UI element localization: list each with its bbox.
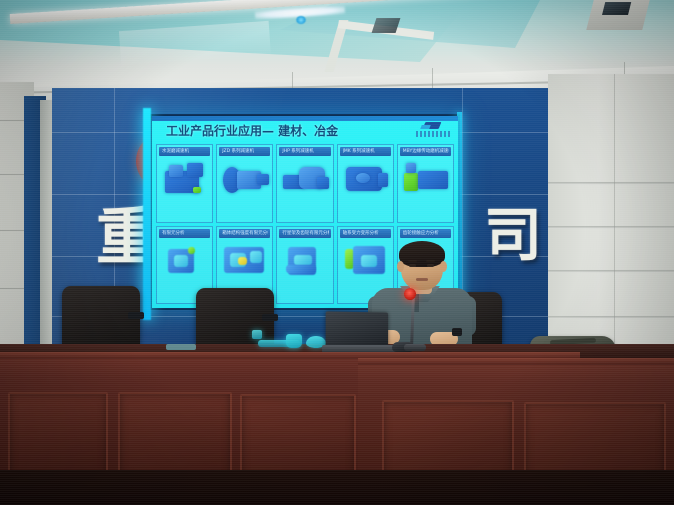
slide-cell-label: JMK 系列减速机 xyxy=(343,148,389,155)
slide-cell: MBY边缘传动磨机减速机 xyxy=(397,144,454,223)
slide-cell-label: MBY边缘传动磨机减速机 xyxy=(403,148,449,155)
presenter-eye-right xyxy=(427,264,434,267)
presenter-hair xyxy=(399,241,445,267)
chair-left-arm xyxy=(128,312,144,319)
slide-cell-header: JZD 系列减速机 xyxy=(219,147,270,156)
slide-cell: JZD 系列减速机 xyxy=(216,144,273,223)
slide-cell-label: 行星架及齿轮有限元分析 xyxy=(282,230,328,237)
podium-right-top-rail xyxy=(358,358,674,365)
product-image xyxy=(223,161,267,218)
slide-cell-header: 箱体结构强度有限元分析 xyxy=(219,229,270,238)
wall-character-right: 司 xyxy=(484,188,542,272)
slide-cell-label: 箱体结构强度有限元分析 xyxy=(222,230,268,237)
presenter-wristwatch xyxy=(452,328,462,336)
slide-cell: JHP 系列减速机 xyxy=(276,144,333,223)
product-image xyxy=(344,161,388,218)
slide-cell-label: 轴系受力变形分析 xyxy=(343,230,389,237)
desk-paper xyxy=(166,344,196,350)
slide-top-bar xyxy=(152,116,458,121)
photo-scene: 重 司 工业产品行业应用— 建材、冶金 水泥磨减速机 xyxy=(0,0,674,505)
laptop-screen xyxy=(326,311,388,348)
analysis-image xyxy=(282,243,328,301)
slide-cell-header: MBY边缘传动磨机减速机 xyxy=(400,147,451,156)
desk-cup-left xyxy=(286,334,302,348)
slide-cell-label: JHP 系列减速机 xyxy=(282,148,328,155)
slide-cell-header: 轴系受力变形分析 xyxy=(340,229,391,238)
microphone-led-icon xyxy=(404,288,416,300)
floor xyxy=(0,470,674,505)
slide-cell: JMK 系列减速机 xyxy=(337,144,394,223)
ceiling-vent-icon xyxy=(372,18,401,33)
right-white-wall xyxy=(548,74,674,356)
slide-cell-header: 水泥磨减速机 xyxy=(159,147,210,156)
presenter-ear-right xyxy=(440,261,447,272)
slide-cell-header: JMK 系列减速机 xyxy=(340,147,391,156)
ceiling-light-blue-dot xyxy=(296,16,306,24)
desk-item-small xyxy=(252,330,262,339)
slide-cell: 水泥磨减速机 xyxy=(156,144,213,223)
slide-cell-header: JHP 系列减速机 xyxy=(279,147,330,156)
slide-cell-header: 齿轮接触应力分析 xyxy=(400,229,451,238)
product-image xyxy=(283,161,327,218)
slide-cell-label: 齿轮接触应力分析 xyxy=(403,230,449,237)
presenter-ear-left xyxy=(397,261,404,272)
slide-cell: 行星架及齿轮有限元分析 xyxy=(276,226,333,305)
product-image xyxy=(404,161,448,218)
chair-center-arm xyxy=(262,314,278,321)
slide-cell-label: JZD 系列减速机 xyxy=(222,148,268,155)
slide-cell-label: 水泥磨减速机 xyxy=(162,148,208,155)
microphone-base xyxy=(404,344,426,351)
slide-logo-icon xyxy=(416,122,450,138)
presenter-brow-left xyxy=(408,260,417,262)
podium-panel-1 xyxy=(8,392,108,480)
slide-title: 工业产品行业应用— 建材、冶金 xyxy=(166,122,416,142)
slide-cell-header: 有限元分析 xyxy=(159,229,210,238)
ceiling-fixture xyxy=(586,0,649,30)
presenter-eye-left xyxy=(409,264,416,267)
slide-cell-header: 行星架及齿轮有限元分析 xyxy=(279,229,330,238)
screen-left-glow xyxy=(143,108,151,320)
slide-cell-label: 有限元分析 xyxy=(162,230,208,237)
product-image xyxy=(163,161,207,218)
presenter-brow-right xyxy=(426,260,435,262)
presenter-mouth xyxy=(416,278,428,281)
